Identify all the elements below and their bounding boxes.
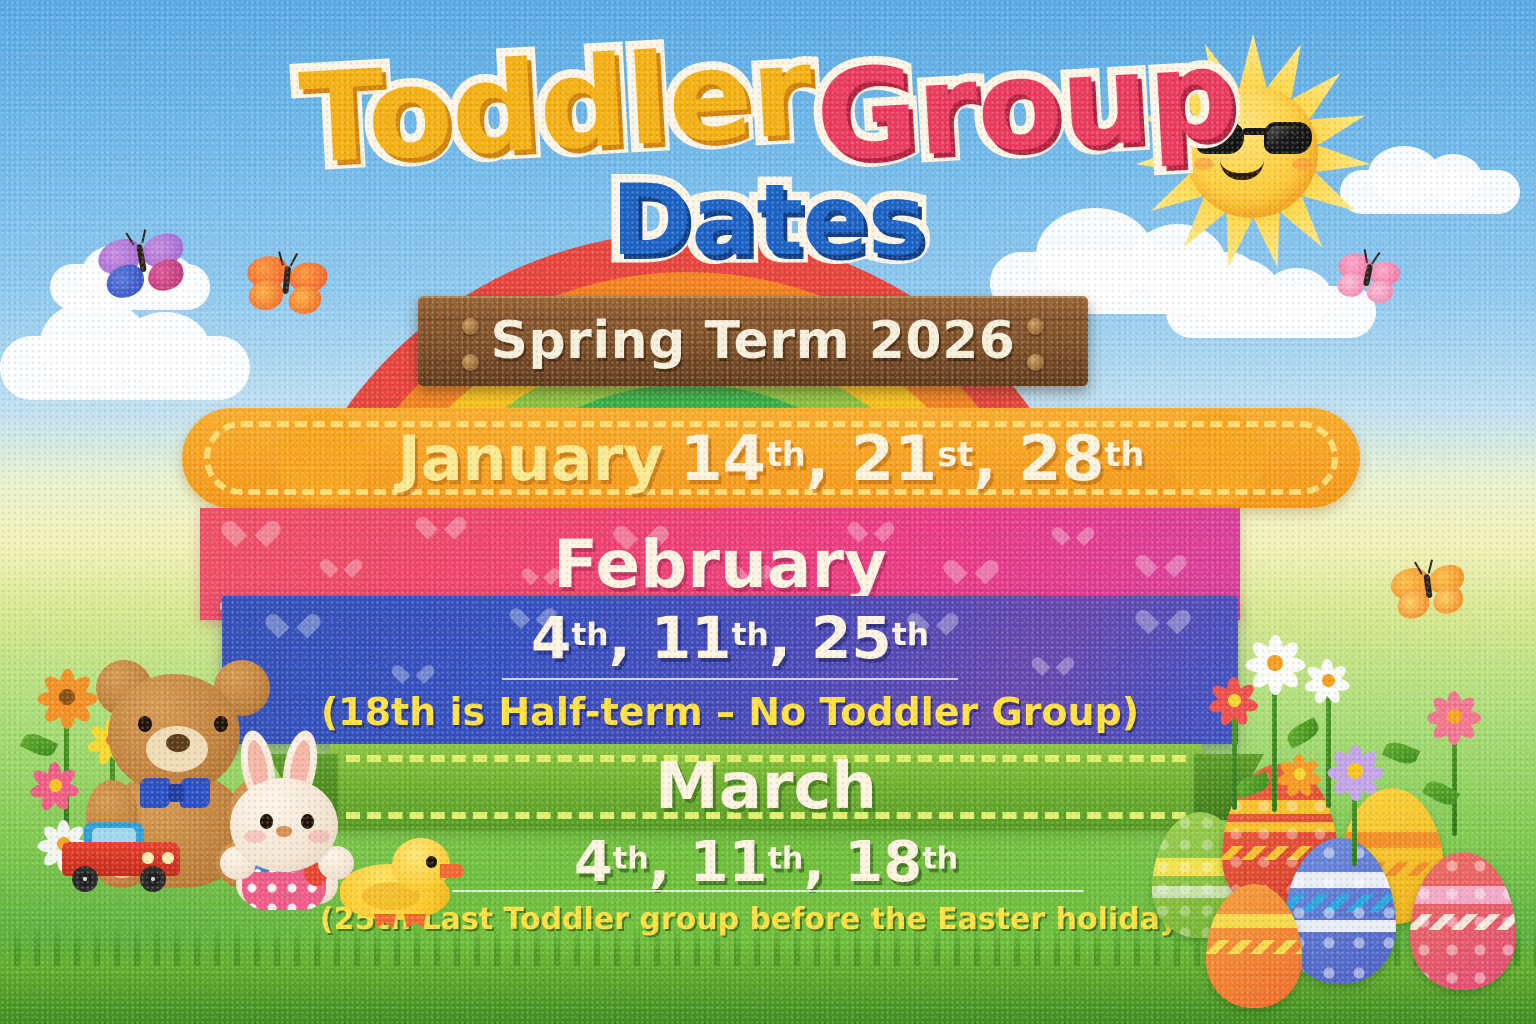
date-ordinal: th (767, 841, 803, 876)
flower-pink-icon (36, 766, 74, 804)
butterfly-purple-icon (95, 229, 190, 305)
date-separator: , (803, 830, 844, 895)
date-ordinal: th (922, 841, 958, 876)
term-sign: Spring Term 2026 (418, 296, 1088, 386)
date-item: 25th (811, 604, 929, 672)
date-separator: , (806, 422, 851, 495)
flower-daisy-white-icon (1254, 642, 1296, 684)
february-dates: 4th, 11th, 25th (222, 602, 1238, 674)
sun-with-sunglasses-icon (1138, 44, 1368, 259)
butterfly-orange-right-icon (1389, 561, 1470, 625)
easter-egg-pink (1410, 852, 1516, 990)
date-day: 4 (531, 604, 571, 672)
date-day: 28 (1018, 422, 1104, 495)
toy-car-icon (62, 822, 180, 894)
date-item: 21st (851, 422, 973, 495)
january-dates: 14th, 21st, 28th (680, 422, 1145, 495)
date-item: 28th (1018, 422, 1144, 495)
divider (502, 678, 958, 680)
sun-cheek-icon (1194, 158, 1214, 170)
february-note: (18th is Half-term – No Toddler Group) (222, 684, 1238, 740)
flower-orange-right-icon (1282, 756, 1318, 792)
january-banner: January14th, 21st, 28th (182, 408, 1360, 508)
flower-purple-icon (1332, 748, 1378, 794)
date-ordinal: th (732, 617, 769, 653)
date-ordinal: st (937, 434, 973, 473)
march-banner: March (330, 744, 1202, 830)
date-day: 21 (851, 422, 937, 495)
rubber-duck-icon (340, 838, 462, 932)
beak-icon (440, 864, 464, 878)
bow-tie-icon (140, 778, 210, 808)
flower-daisy-small-icon (1310, 662, 1346, 698)
flower-orange-icon (46, 676, 88, 718)
title-word-toddler: Toddler (296, 20, 815, 192)
date-day: 4 (574, 830, 613, 895)
poster-canvas: Toddler Group Dates Spring Term 2026 Jan… (0, 0, 1536, 1024)
date-day: 25 (811, 604, 892, 672)
butterfly-pink-icon (1332, 250, 1403, 310)
date-item: 11th (690, 830, 804, 895)
date-item: 4th (574, 830, 649, 895)
date-separator: , (769, 604, 811, 672)
date-separator: , (649, 830, 690, 895)
sun-cheek-icon (1292, 158, 1312, 170)
date-day: 14 (680, 422, 766, 495)
term-sign-label: Spring Term 2026 (418, 296, 1088, 386)
march-month-name: March (330, 744, 1202, 830)
date-ordinal: th (766, 434, 806, 473)
date-ordinal: th (892, 617, 929, 653)
date-separator: , (973, 422, 1018, 495)
date-ordinal: th (613, 841, 649, 876)
date-separator: , (609, 604, 651, 672)
date-item: 11th (651, 604, 769, 672)
title-word-dates: Dates (611, 164, 925, 278)
date-ordinal: th (571, 617, 608, 653)
date-day: 11 (651, 604, 732, 672)
sunglasses-icon (1196, 122, 1312, 156)
date-ordinal: th (1105, 434, 1145, 473)
butterfly-orange-icon (243, 254, 329, 320)
date-item: 18th (844, 830, 958, 895)
divider (452, 890, 1084, 892)
flower-red-icon (1214, 680, 1254, 720)
date-day: 18 (844, 830, 922, 895)
february-dates-banner: 4th, 11th, 25th (18th is Half-term – No … (222, 596, 1238, 744)
date-item: 4th (531, 604, 609, 672)
january-month-name: January (398, 422, 664, 495)
flower-pink-right-icon (1432, 694, 1476, 738)
january-label: January14th, 21st, 28th (182, 408, 1360, 508)
date-item: 14th (680, 422, 806, 495)
date-day: 11 (690, 830, 768, 895)
